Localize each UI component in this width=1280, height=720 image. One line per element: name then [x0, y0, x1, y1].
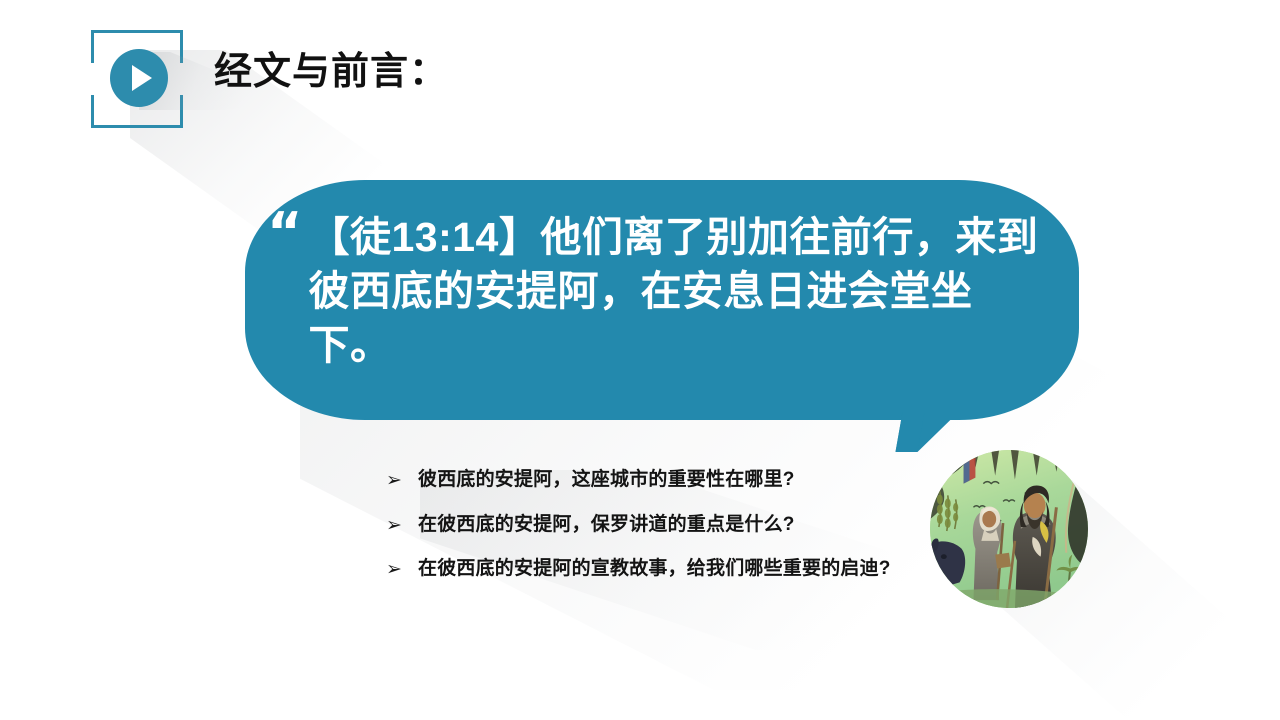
frame-right-top-edge [180, 30, 183, 63]
quote-speech-bubble: “ 【徒13:14】他们离了别加往前行，来到彼西底的安提阿，在安息日进会堂坐下。 [245, 180, 1079, 420]
slide-canvas: 经文与前言： “ 【徒13:14】他们离了别加往前行，来到彼西底的安提阿，在安息… [0, 0, 1280, 720]
list-item: ➢ 在彼西底的安提阿的宣教故事，给我们哪些重要的启迪? [386, 555, 916, 584]
slide-header: 经文与前言： [0, 0, 1280, 150]
frame-top-edge [91, 30, 183, 33]
arrow-bullet-icon: ➢ [386, 555, 418, 584]
frame-right-bottom-edge [180, 95, 183, 128]
frame-bottom-edge [91, 125, 183, 128]
frame-left-top-edge [91, 30, 94, 63]
question-text: 在彼西底的安提阿，保罗讲道的重点是什么? [418, 511, 916, 540]
list-item: ➢ 彼西底的安提阿，这座城市的重要性在哪里? [386, 466, 916, 495]
arrow-bullet-icon: ➢ [386, 511, 418, 540]
illustration-graphic [930, 450, 1088, 608]
quote-open-mark-icon: “ [267, 210, 303, 256]
question-list: ➢ 彼西底的安提阿，这座城市的重要性在哪里? ➢ 在彼西底的安提阿，保罗讲道的重… [386, 466, 916, 584]
bubble-content: “ 【徒13:14】他们离了别加往前行，来到彼西底的安提阿，在安息日进会堂坐下。 [267, 210, 1053, 410]
question-text: 彼西底的安提阿，这座城市的重要性在哪里? [418, 466, 916, 495]
page-title: 经文与前言： [214, 52, 448, 94]
paul-and-barnabas-illustration [930, 450, 1088, 608]
scripture-quote-text: 【徒13:14】他们离了别加往前行，来到彼西底的安提阿，在安息日进会堂坐下。 [309, 210, 1054, 372]
bubble-tail [895, 412, 958, 452]
arrow-bullet-icon: ➢ [386, 466, 418, 495]
frame-left-bottom-edge [91, 95, 94, 128]
play-button-icon[interactable] [110, 49, 168, 107]
question-text: 在彼西底的安提阿的宣教故事，给我们哪些重要的启迪? [418, 555, 916, 584]
list-item: ➢ 在彼西底的安提阿，保罗讲道的重点是什么? [386, 511, 916, 540]
